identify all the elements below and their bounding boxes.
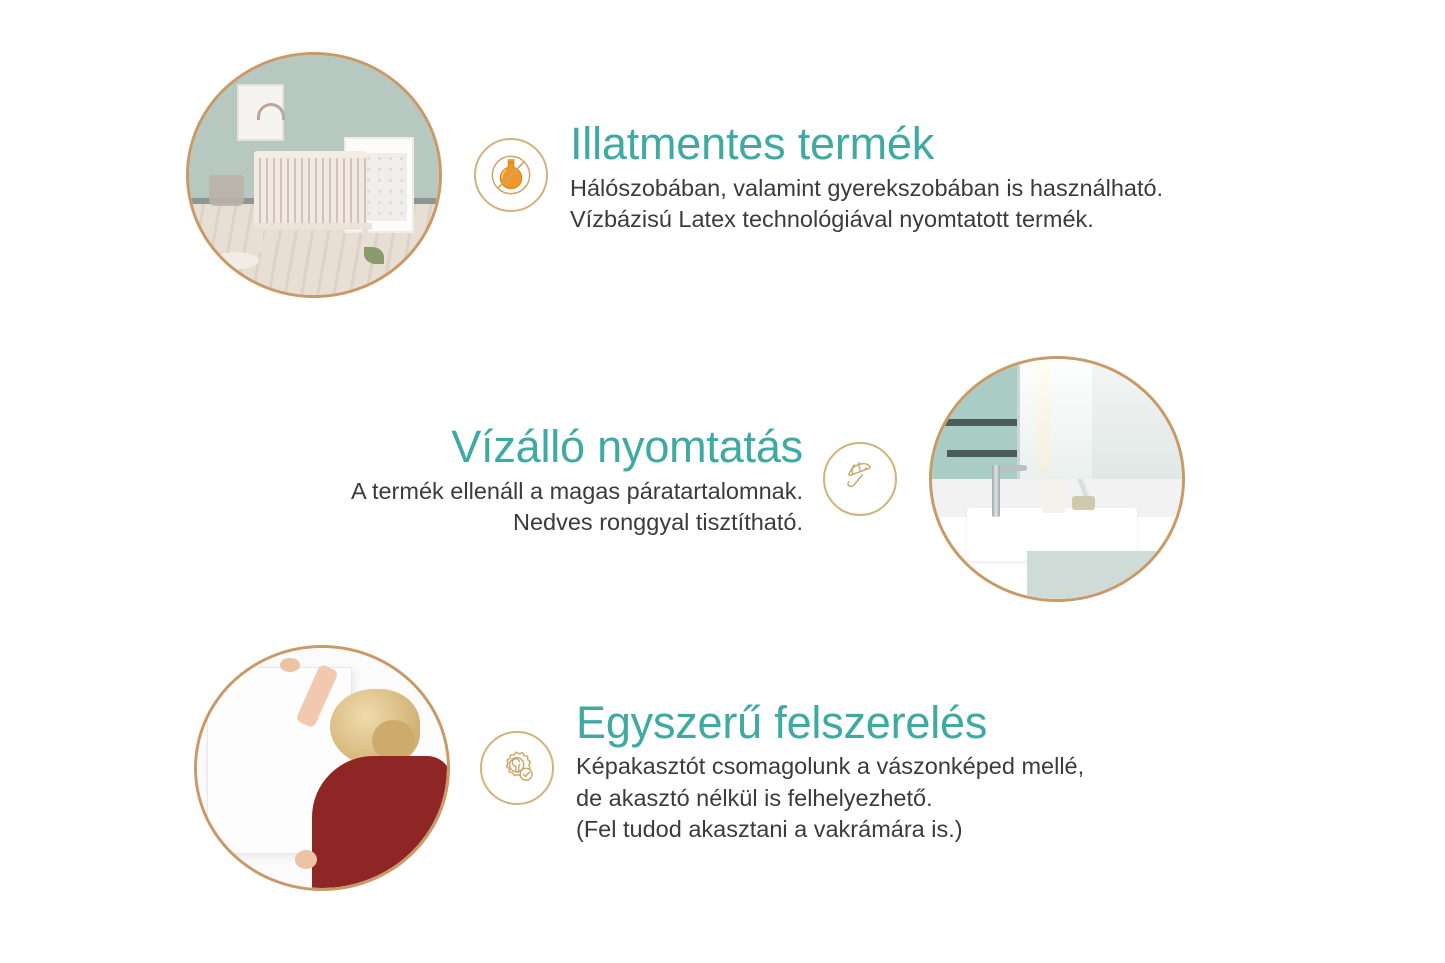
- feature-description-line: Vízbázisú Latex technológiával nyomtatot…: [570, 204, 1306, 235]
- crib-bars: [254, 158, 367, 223]
- bathroom-shelf-upper: [942, 419, 1017, 426]
- nursery-room-photo: [186, 52, 442, 298]
- woman-hair-bun: [372, 720, 415, 761]
- woman-hanging-canvas-photo-image: [197, 648, 447, 888]
- bathroom-light-strip: [1037, 359, 1050, 474]
- bathroom-soap-dispenser: [1042, 479, 1065, 513]
- bathroom-mirror-right: [1092, 359, 1182, 484]
- feature-title: Vízálló nyomtatás: [175, 423, 803, 472]
- woman-hanging-canvas-photo: [194, 645, 450, 891]
- crib-leg-left: [257, 228, 264, 252]
- crib-base: [254, 223, 372, 230]
- woman-hand-lower: [295, 850, 318, 869]
- bathroom-faucet: [992, 465, 1000, 518]
- nursery-basket: [209, 175, 244, 206]
- bathroom-vanity-front: [1027, 551, 1182, 599]
- feature-description: Képakasztót csomagolunk a vászonképed me…: [576, 751, 1309, 845]
- umbrella-icon: [823, 442, 897, 516]
- feature-description-line: (Fel tudod akasztani a vakrámára is.): [576, 814, 1309, 845]
- feature-row-vizallo-nyomtatas: Vízálló nyomtatás A termék ellenáll a ma…: [175, 356, 1185, 602]
- woman-hand-upper: [280, 658, 300, 672]
- bathroom-sink-photo-image: [932, 359, 1182, 599]
- feature-description-line: de akasztó nélkül is felhelyezhető.: [576, 783, 1309, 814]
- bathroom-shelf-lower: [947, 450, 1017, 457]
- nursery-room-photo-image: [189, 55, 439, 295]
- feature-row-illatmentes-termek: Illatmentes termék Hálószobában, valamin…: [186, 52, 1306, 298]
- feature-description-line: A termék ellenáll a magas páratartalomna…: [175, 476, 803, 507]
- woman-burgundy-top: [312, 756, 447, 888]
- feature-text-block: Egyszerű felszerelés Képakasztót csomago…: [576, 691, 1309, 845]
- bathroom-mirror: [1017, 359, 1095, 498]
- nursery-plant: [364, 247, 384, 264]
- feature-description-line: Nedves ronggyal tisztítható.: [175, 507, 803, 538]
- feature-description: A termék ellenáll a magas páratartalomna…: [175, 476, 803, 539]
- bathroom-sink-photo: [929, 356, 1185, 602]
- feature-text-block: Illatmentes termék Hálószobában, valamin…: [570, 114, 1306, 235]
- feature-title: Illatmentes termék: [570, 120, 1306, 169]
- feature-highlights-page: Illatmentes termék Hálószobában, valamin…: [0, 0, 1445, 963]
- nursery-rug: [214, 252, 259, 269]
- gear-wrench-check-icon: [480, 731, 554, 805]
- feature-title: Egyszerű felszerelés: [576, 699, 1309, 748]
- bathroom-jar: [1072, 496, 1095, 510]
- feature-description-line: Hálószobában, valamint gyerekszobában is…: [570, 173, 1306, 204]
- feature-description-line: Képakasztót csomagolunk a vászonképed me…: [576, 751, 1309, 782]
- no-fragrance-bottle-icon: [474, 138, 548, 212]
- feature-description: Hálószobában, valamint gyerekszobában is…: [570, 173, 1306, 236]
- feature-row-egyszeru-felszereles: Egyszerű felszerelés Képakasztót csomago…: [194, 645, 1309, 891]
- feature-text-block: Vízálló nyomtatás A termék ellenáll a ma…: [175, 419, 803, 538]
